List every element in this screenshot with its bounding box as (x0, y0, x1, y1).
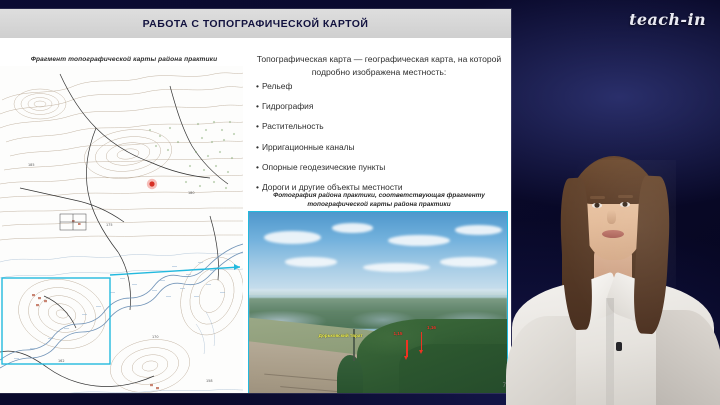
annotation-arrow (421, 332, 422, 351)
bullet-icon: • (256, 101, 259, 111)
photo-annotation-red-2: 1,16 (427, 325, 436, 330)
cloud (285, 257, 337, 266)
svg-text:175: 175 (106, 223, 112, 227)
photo-hedgerow (337, 355, 363, 393)
photo-forest-near (399, 344, 508, 393)
photo-caption: Фотография района практики, соответствую… (250, 191, 508, 209)
topographic-map: 175 180 162 170 158 185 (0, 66, 243, 393)
svg-text:180: 180 (188, 191, 194, 195)
presenter-video (506, 120, 720, 405)
cloud (264, 231, 321, 244)
list-item: •Растительность (256, 121, 506, 131)
cloud (455, 225, 501, 234)
slide-title-bar: РАБОТА С ТОПОГРАФИЧЕСКОЙ КАРТОЙ (0, 9, 511, 38)
photo-annotation-red-1: 1,15 (393, 331, 402, 336)
video-frame: teach-in РАБОТА С ТОПОГРАФИЧЕСКОЙ КАРТОЙ… (0, 0, 720, 405)
photo-caption-line-1: Фотография района практики, соответствую… (250, 191, 508, 200)
cloud (363, 263, 430, 272)
bullet-icon: • (256, 162, 259, 172)
cloud (440, 257, 497, 266)
bullet-icon: • (256, 81, 259, 91)
presenter-lighting (556, 160, 676, 350)
annotation-arrow (406, 340, 407, 357)
bullet-icon: • (256, 142, 259, 152)
aerial-photograph: Дорьковский тврат 1,15 1,16 (248, 211, 508, 393)
topographic-map-svg: 175 180 162 170 158 185 (0, 66, 243, 393)
teach-in-logo: teach-in (629, 10, 706, 29)
list-item-label: Ирригационные каналы (262, 142, 355, 152)
list-item-label: Опорные геодезические пункты (262, 162, 385, 172)
list-item-label: Рельеф (262, 81, 292, 91)
photo-content: Дорьковский тврат 1,15 1,16 (249, 212, 507, 393)
svg-text:162: 162 (58, 359, 64, 363)
svg-text:185: 185 (28, 163, 34, 167)
bullet-icon: • (256, 121, 259, 131)
list-item: •Опорные геодезические пункты (256, 162, 506, 172)
photo-caption-line-2: топографической карты района практики (250, 200, 508, 209)
cloud (388, 235, 450, 246)
svg-text:158: 158 (206, 379, 212, 383)
feature-list: •Рельеф •Гидрография •Растительность •Ир… (256, 81, 506, 202)
photo-annotation-yellow: Дорьковский тврат (319, 333, 363, 338)
svg-text:170: 170 (152, 335, 158, 339)
list-item: •Ирригационные каналы (256, 142, 506, 152)
list-item: •Гидрография (256, 101, 506, 111)
presentation-slide: РАБОТА С ТОПОГРАФИЧЕСКОЙ КАРТОЙ Фрагмент… (0, 9, 511, 393)
list-item-label: Растительность (262, 121, 324, 131)
list-item-label: Гидрография (262, 101, 313, 111)
list-item: •Рельеф (256, 81, 506, 91)
map-marker-icon (147, 179, 157, 189)
definition-text: Топографическая карта — географическая к… (252, 53, 506, 79)
cloud (332, 223, 373, 232)
page-title: РАБОТА С ТОПОГРАФИЧЕСКОЙ КАРТОЙ (143, 18, 369, 30)
map-caption: Фрагмент топографической карты района пр… (8, 56, 240, 63)
